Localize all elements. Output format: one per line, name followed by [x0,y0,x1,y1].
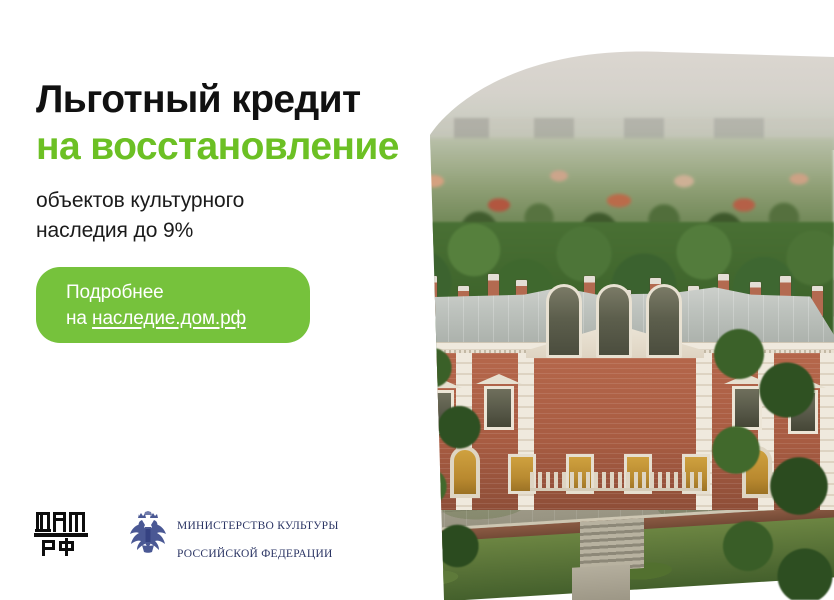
terrace-balustrade [530,472,702,491]
promo-banner: Льготный кредит на восстановление объект… [0,0,834,600]
cta-text: Подробнее на наследие.дом.рф [66,280,246,332]
dom-rf-logo[interactable] [34,508,88,558]
cta-label: Подробнее [66,282,164,303]
page-title: Льготный кредит на восстановление [36,76,399,170]
ministry-name: МИНИСТЕРСТВО КУЛЬТУРЫ РОССИЙСКОЙ ФЕДЕРАЦ… [177,505,339,561]
garden-path [572,564,630,600]
photo-inner [334,0,834,600]
heritage-mansion-aerial-photo [334,0,834,600]
ministry-line-2: РОССИЙСКОЙ ФЕДЕРАЦИИ [177,548,333,560]
cta-url: наследие.дом.рф [92,308,246,329]
logo-row: МИНИСТЕРСТВО КУЛЬТУРЫ РОССИЙСКОЙ ФЕДЕРАЦ… [34,505,339,561]
foreground-tree-right [694,300,834,600]
foreground-tree-left [404,330,496,600]
russian-double-headed-eagle-emblem [128,511,168,555]
ministry-of-culture-logo[interactable]: МИНИСТЕРСТВО КУЛЬТУРЫ РОССИЙСКОЙ ФЕДЕРАЦ… [128,505,339,561]
subtitle: объектов культурного наследия до 9% [36,186,244,246]
cta-prefix: на [66,308,92,329]
learn-more-button[interactable]: Подробнее на наследие.дом.рф [36,267,310,343]
subtitle-line-1: объектов культурного [36,189,244,212]
headline-line-2: на восстановление [36,123,399,170]
terrace-steps [580,518,644,572]
ministry-line-1: МИНИСТЕРСТВО КУЛЬТУРЫ [177,520,339,532]
headline-line-1: Льготный кредит [36,78,361,121]
subtitle-line-2: наследия до 9% [36,219,193,242]
